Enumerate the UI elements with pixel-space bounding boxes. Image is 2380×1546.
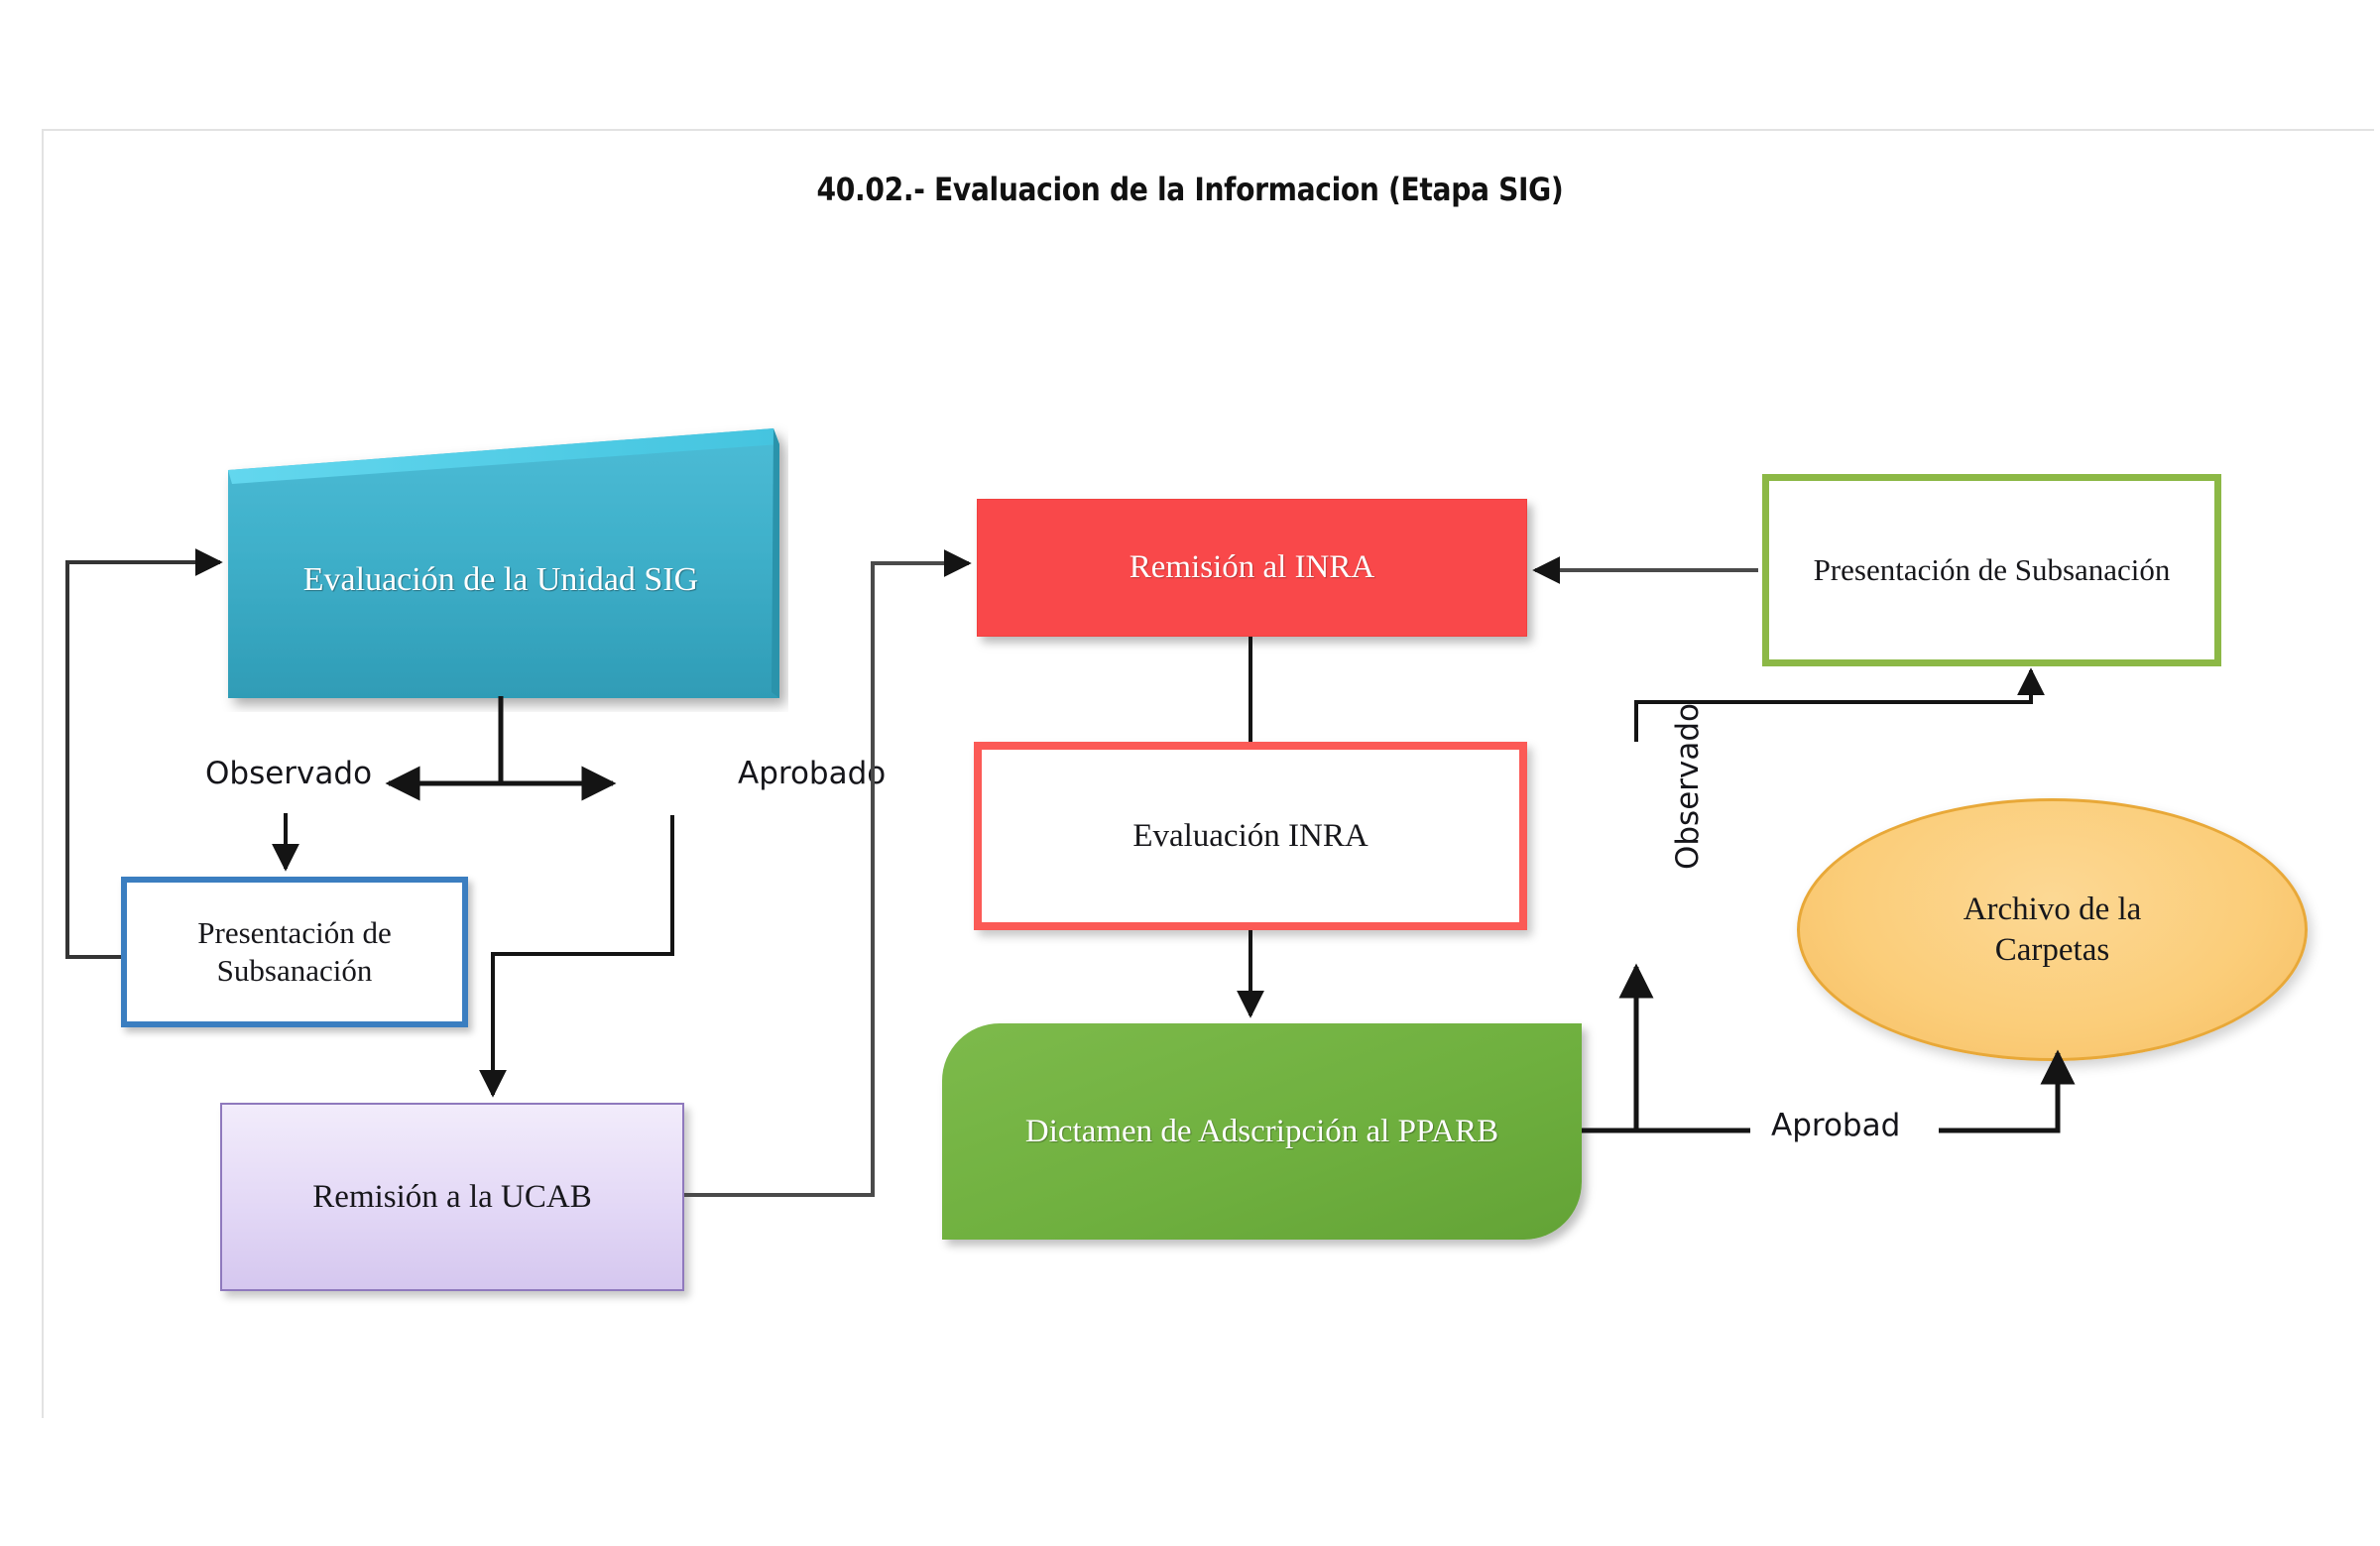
node-label: Remisión al INRA	[978, 547, 1526, 587]
edge-label-observado-right: Observado	[1670, 687, 1706, 886]
edge-label-aprobado-left: Aprobado	[738, 756, 886, 791]
edge-aprobado-to-remision-ucab	[493, 815, 672, 1095]
node-presentacion-subsanacion-right[interactable]: Presentación de Subsanación	[1762, 474, 2221, 666]
node-dictamen-adscripcion-pparb[interactable]: Dictamen de Adscripción al PPARB	[942, 1023, 1582, 1240]
node-remision-al-inra[interactable]: Remisión al INRA	[977, 499, 1527, 637]
edge-label-aprobad-right: Aprobad	[1771, 1108, 1900, 1143]
node-label: Evaluación INRA	[982, 816, 1519, 856]
edge-aprobad-to-archivo	[1939, 1053, 2058, 1130]
node-label-wrapper: Archivo de la Carpetas	[1800, 890, 2305, 970]
node-presentacion-subsanacion-left[interactable]: Presentación de Subsanación	[121, 877, 468, 1027]
node-evaluacion-unidad-sig[interactable]: Evaluación de la Unidad SIG	[226, 428, 775, 696]
edge-label-observado-left: Observado	[205, 756, 372, 791]
node-label-line2: Carpetas	[1995, 932, 2109, 968]
node-label: Dictamen de Adscripción al PPARB	[942, 1112, 1582, 1151]
node-label-wrapper: Presentación de Subsanación	[127, 914, 462, 990]
node-archivo-de-la-carpetas[interactable]: Archivo de la Carpetas	[1797, 798, 2308, 1061]
node-label-line2: Subsanación	[217, 953, 373, 988]
node-label: Presentación de Subsanación	[1769, 551, 2214, 589]
node-remision-a-la-ucab[interactable]: Remisión a la UCAB	[220, 1103, 684, 1291]
node-label-line1: Archivo de la	[1963, 892, 2142, 927]
page-title: 40.02.- Evaluacion de la Informacion (Et…	[143, 171, 2237, 208]
node-label: Evaluación de la Unidad SIG	[226, 559, 775, 600]
node-label-line1: Presentación de	[197, 915, 391, 950]
node-label: Remisión a la UCAB	[222, 1177, 682, 1217]
node-evaluacion-inra[interactable]: Evaluación INRA	[974, 742, 1527, 930]
diagram-canvas: 40.02.- Evaluacion de la Informacion (Et…	[0, 0, 2380, 1546]
